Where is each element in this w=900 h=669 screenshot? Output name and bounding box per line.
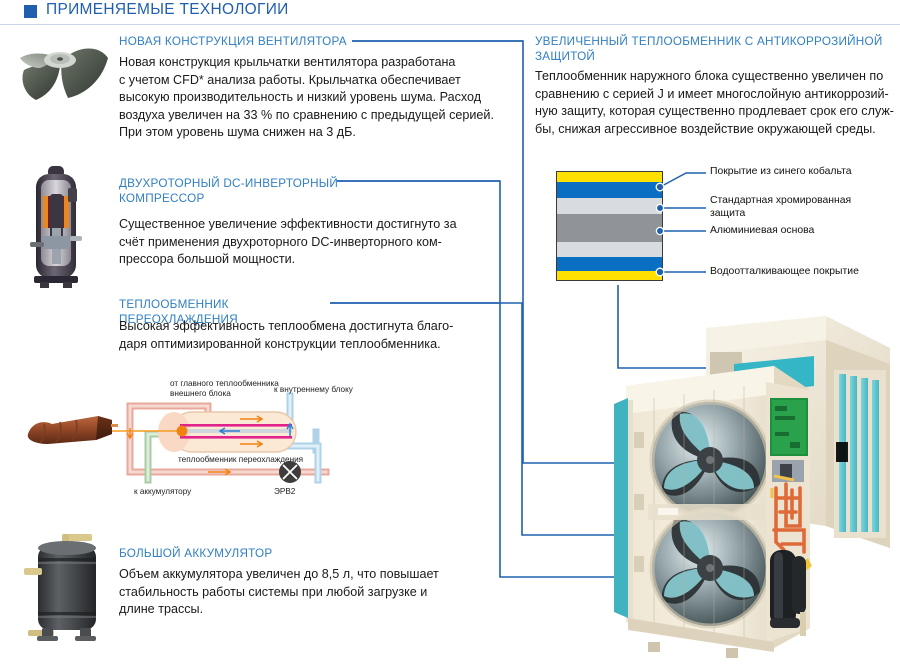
outdoor-unit-photo <box>614 312 900 662</box>
schematic-label-to-accumulator: к аккумулятору <box>134 487 192 496</box>
schematic-label-valve: ЭРВ2 <box>274 487 296 496</box>
subcooler-schematic: от главного теплообменника внешнего блок… <box>112 376 374 500</box>
section-body-heat-exchanger: Теплообменник наружного блока существенн… <box>535 68 900 138</box>
schematic-label-from-main-hx: от главного теплообменника <box>170 379 279 388</box>
schematic-label-to-indoor: к внутреннему блоку <box>274 385 354 394</box>
square-bullet-icon <box>24 5 37 18</box>
accumulator-tank-icon <box>24 530 110 642</box>
section-body-fan: Новая конструкция крыльчатки вентилятора… <box>119 54 519 142</box>
schematic-label-center: теплообменник переохлаждения <box>178 455 303 464</box>
section-title-fan: НОВАЯ КОНСТРУКЦИЯ ВЕНТИЛЯТОРА <box>119 35 359 50</box>
section-body-compressor: Существенное увеличение эффективности до… <box>119 216 519 269</box>
fan-blade-icon <box>14 32 112 110</box>
copper-pipe-icon <box>22 404 118 456</box>
coating-callout-aluminium: Алюминиевая основа <box>710 225 890 238</box>
coating-callout-blue-cobalt: Покрытие из синего кобальта <box>710 166 890 179</box>
section-body-accumulator: Объем аккумулятора увеличен до 8,5 л, чт… <box>119 566 519 619</box>
section-title-compressor: ДВУХРОТОРНЫЙ DC-ИНВЕРТОРНЫЙ КОМПРЕССОР <box>119 177 349 206</box>
page-title: ПРИМЕНЯЕМЫЕ ТЕХНОЛОГИИ <box>46 1 289 19</box>
compressor-icon <box>30 166 82 288</box>
coating-callout-hydrophobic: Водоотталкивающее покрытие <box>710 266 900 279</box>
section-title-heat-exchanger: УВЕЛИЧЕННЫЙ ТЕПЛООБМЕННИК С АНТИКОРРОЗИЙ… <box>535 35 895 64</box>
svg-text:внешнего блока: внешнего блока <box>170 389 231 398</box>
section-title-accumulator: БОЛЬШОЙ АККУМУЛЯТОР <box>119 547 349 562</box>
coating-callout-chrome: Стандартная хромированная защита <box>710 195 890 220</box>
page-header: ПРИМЕНЯЕМЫЕ ТЕХНОЛОГИИ <box>0 0 900 26</box>
section-body-subcooler: Высокая эффективность теплообмена достиг… <box>119 318 519 353</box>
header-divider <box>0 24 900 25</box>
